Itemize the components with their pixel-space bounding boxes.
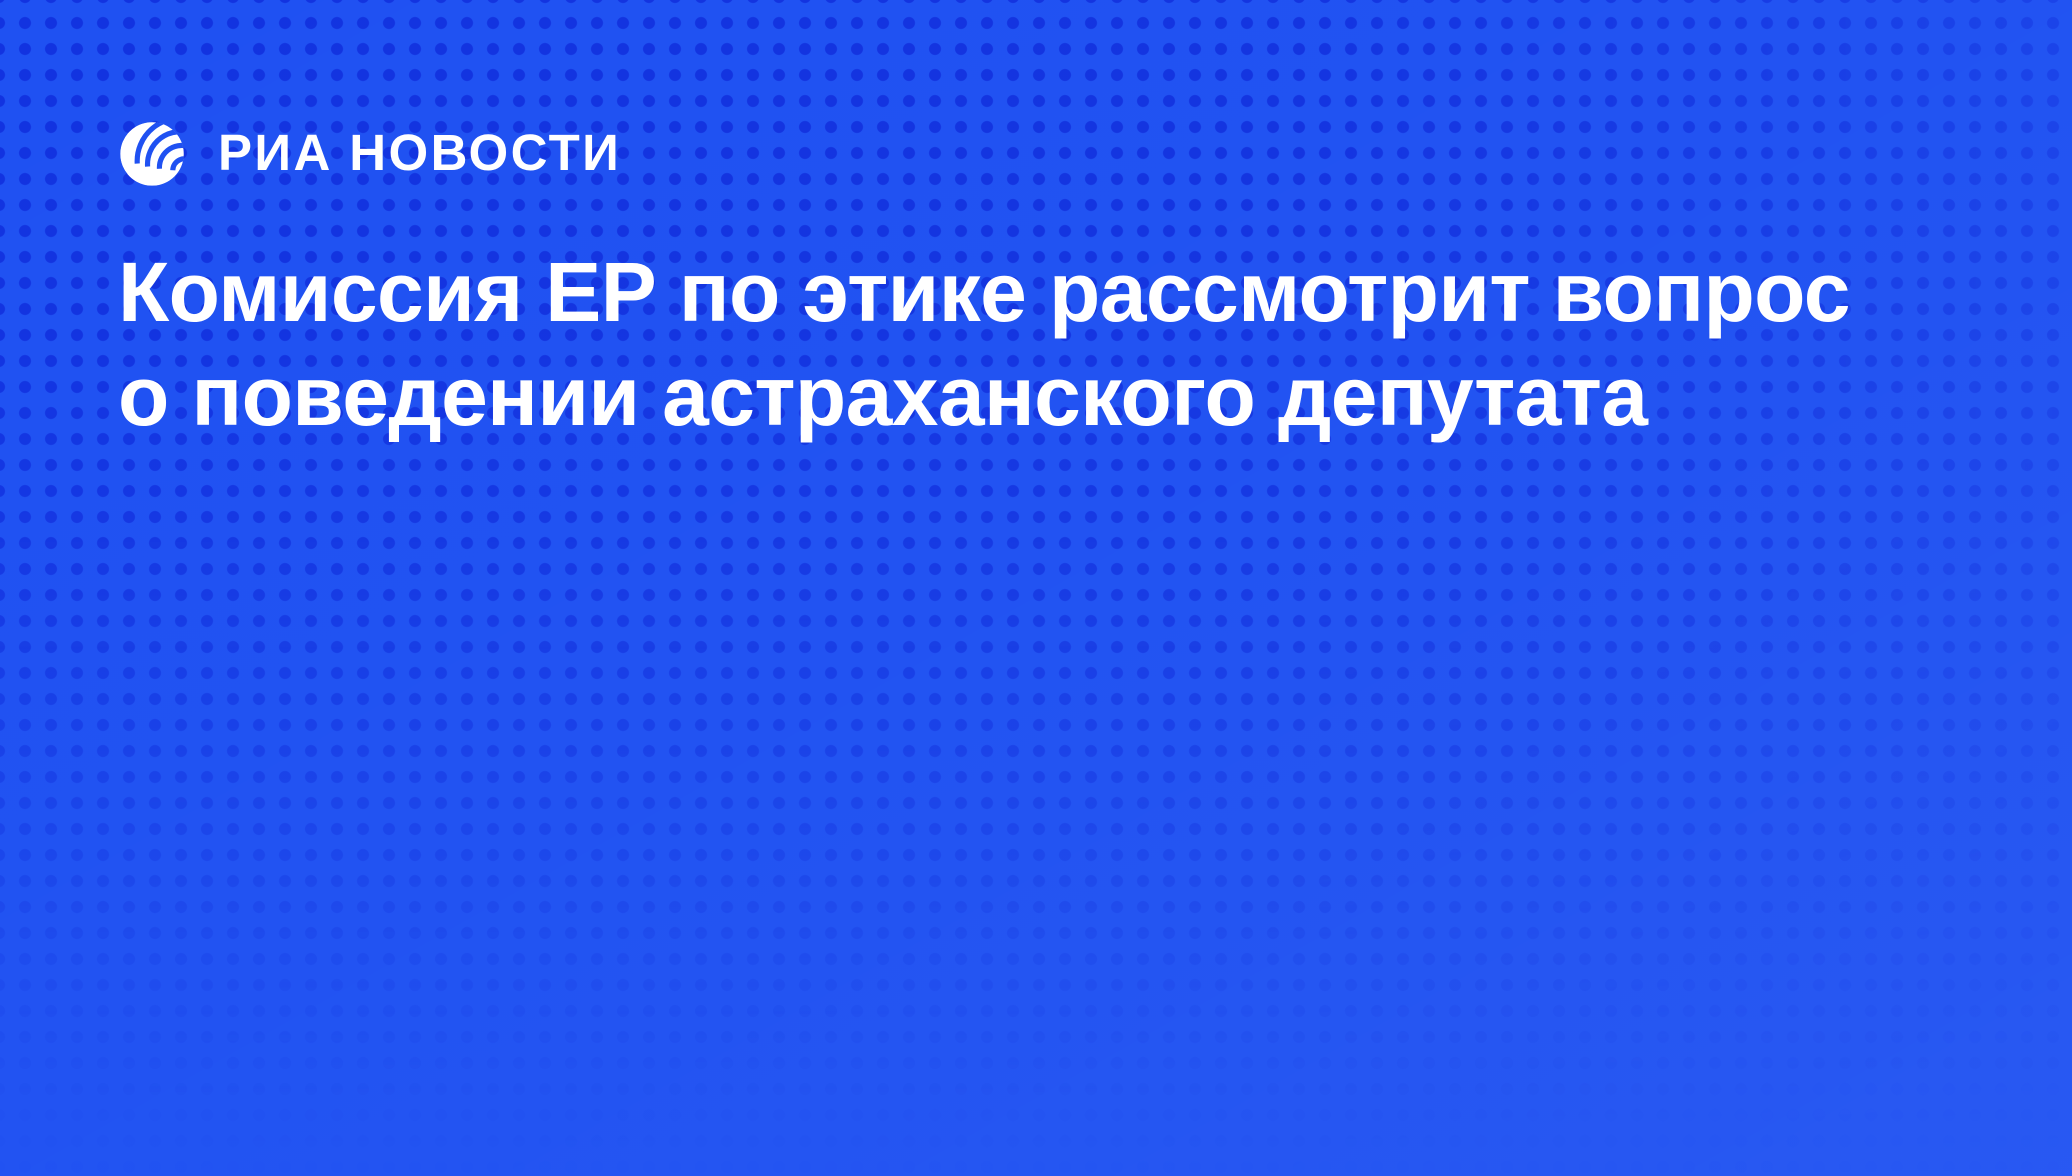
ria-share-card: РИА НОВОСТИ Комиссия ЕР по этике рассмот… [0,0,2072,1176]
card-content: РИА НОВОСТИ Комиссия ЕР по этике рассмот… [118,0,1972,1176]
ria-globe-icon [118,114,192,188]
page-title: Комиссия ЕР по этике рассмотрит вопрос о… [118,240,1923,448]
brand-lockup[interactable]: РИА НОВОСТИ [118,114,621,188]
brand-wordmark: РИА НОВОСТИ [218,127,621,178]
